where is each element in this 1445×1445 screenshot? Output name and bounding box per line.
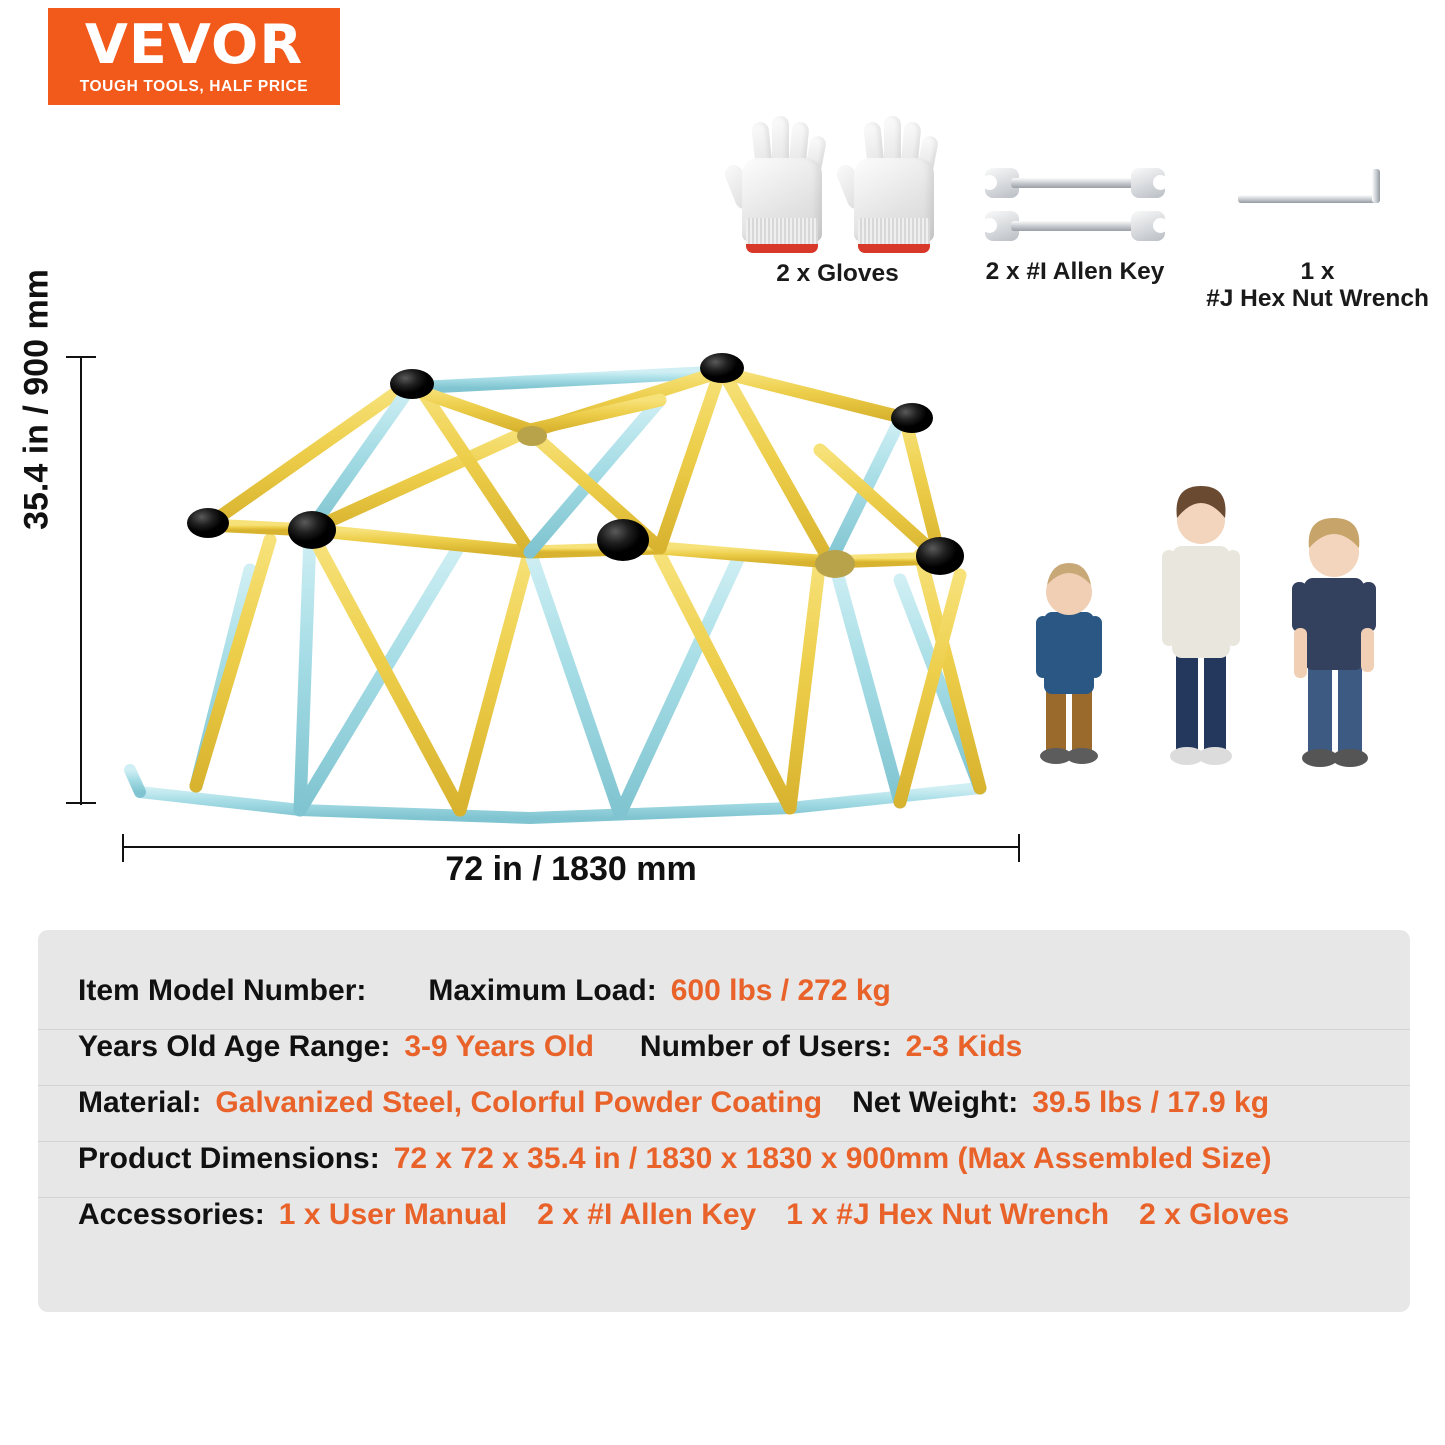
width-dimension-label: 72 in / 1830 mm	[118, 850, 1024, 889]
spec-value: 600 lbs / 272 kg	[671, 974, 891, 1008]
spec-key: Years Old Age Range:	[78, 1030, 390, 1064]
spec-value: 1 x User Manual	[279, 1198, 507, 1232]
spec-key: Product Dimensions:	[78, 1142, 380, 1176]
spec-row: Material: Galvanized Steel, Colorful Pow…	[38, 1086, 1410, 1142]
spec-row: Item Model Number: Maximum Load: 600 lbs…	[38, 974, 1410, 1030]
open-end-wrench-icon	[955, 150, 1195, 258]
height-dimension-label: 35.4 in / 900 mm	[18, 200, 57, 600]
specifications-panel: Item Model Number: Maximum Load: 600 lbs…	[38, 930, 1410, 1312]
spec-value: 2 x Gloves	[1139, 1198, 1289, 1232]
spec-key: Accessories:	[78, 1198, 265, 1232]
brand-tagline: TOUGH TOOLS, HALF PRICE	[80, 78, 309, 96]
dome-crown-ring	[410, 372, 905, 432]
accessory-gloves: 2 x Gloves	[690, 112, 985, 287]
hex-key-icon	[1185, 150, 1445, 258]
spec-key: Maximum Load:	[428, 974, 656, 1008]
accessory-allen-key: 2 x #I Allen Key	[955, 150, 1195, 285]
children-scale-reference	[1020, 400, 1420, 810]
spec-value: 2 x #I Allen Key	[537, 1198, 756, 1232]
child-figure-boy	[1292, 518, 1376, 767]
dome-climber-product-image	[100, 340, 1060, 830]
vevor-logo: VEVOR TOUGH TOOLS, HALF PRICE	[48, 8, 340, 105]
child-figure-girl	[1162, 486, 1240, 765]
gloves-icon	[690, 112, 985, 260]
accessory-gloves-label: 2 x Gloves	[690, 260, 985, 287]
spec-key: Item Model Number:	[78, 974, 366, 1008]
accessory-hex-nut-wrench-label: 1 x #J Hex Nut Wrench	[1185, 258, 1445, 313]
spec-row: Accessories: 1 x User Manual 2 x #I Alle…	[38, 1198, 1410, 1253]
spec-value: 1 x #J Hex Nut Wrench	[786, 1198, 1109, 1232]
dome-base-ring	[130, 770, 980, 818]
spec-key: Material:	[78, 1086, 201, 1120]
spec-row: Product Dimensions: 72 x 72 x 35.4 in / …	[38, 1142, 1410, 1198]
spec-row: Years Old Age Range: 3-9 Years Old Numbe…	[38, 1030, 1410, 1086]
accessory-allen-key-label: 2 x #I Allen Key	[955, 258, 1195, 285]
brand-name: VEVOR	[85, 18, 303, 72]
spec-value: 39.5 lbs / 17.9 kg	[1032, 1086, 1269, 1120]
child-figure-toddler	[1036, 563, 1102, 764]
spec-key: Net Weight:	[852, 1086, 1018, 1120]
spec-value: 2-3 Kids	[906, 1030, 1023, 1064]
spec-value: Galvanized Steel, Colorful Powder Coatin…	[215, 1086, 822, 1120]
accessory-hex-nut-wrench: 1 x #J Hex Nut Wrench	[1185, 150, 1445, 313]
height-dimension-line	[62, 352, 102, 810]
spec-key: Number of Users:	[640, 1030, 892, 1064]
dome-lower-struts	[196, 535, 980, 814]
spec-value: 3-9 Years Old	[404, 1030, 594, 1064]
spec-value: 72 x 72 x 35.4 in / 1830 x 1830 x 900mm …	[394, 1142, 1272, 1176]
